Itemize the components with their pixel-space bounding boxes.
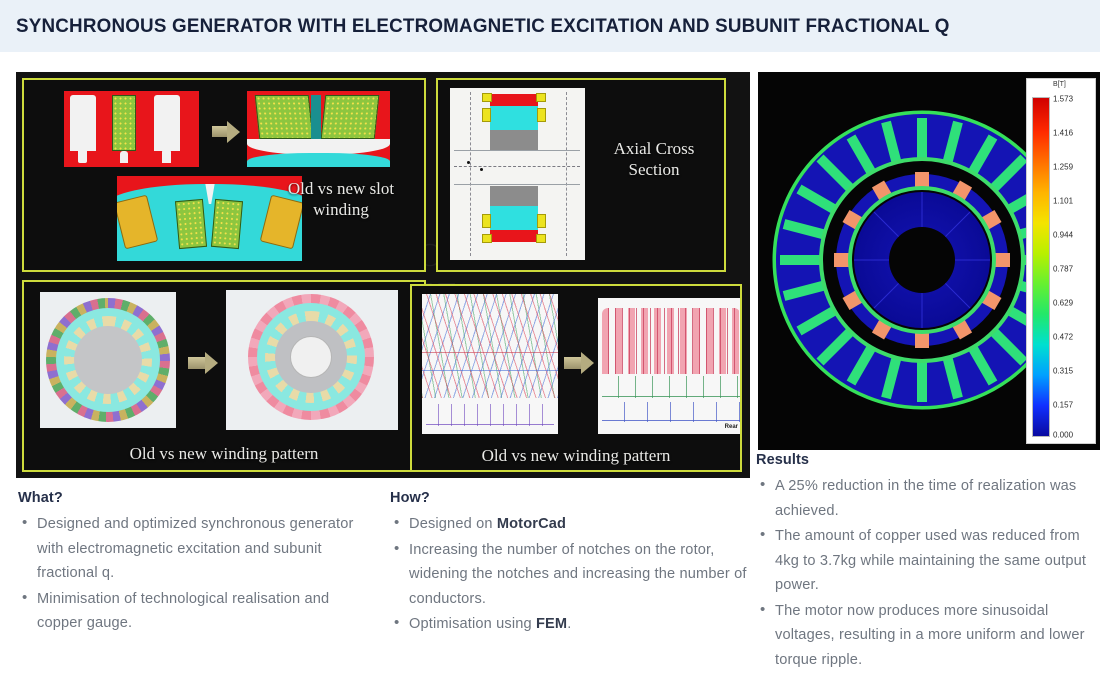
slide-header: SYNCHRONOUS GENERATOR WITH ELECTROMAGNET…: [0, 0, 1100, 52]
colorbar-unit-label: B[T]: [1053, 81, 1066, 88]
caption-winding-radial: Old vs new winding pattern: [24, 443, 424, 464]
column-how-list: Designed on MotorCad Increasing the numb…: [390, 512, 750, 637]
colorbar-tick-1: 1.416: [1053, 129, 1073, 138]
axial-drawing: [450, 88, 585, 260]
column-what-list: Designed and optimized synchronous gener…: [18, 512, 378, 636]
caption-line-1: Axial Cross: [614, 139, 695, 158]
new-coil-diagram: Rear: [598, 298, 742, 434]
list-item: The amount of copper used was reduced fr…: [756, 524, 1100, 598]
slot-detail-art: [117, 176, 302, 261]
column-results-list: A 25% reduction in the time of realizati…: [756, 474, 1100, 672]
slot-winding-comparison-art: [64, 91, 390, 167]
colorbar-tick-5: 0.787: [1053, 265, 1073, 274]
panel-winding-pattern-linear[interactable]: Rear Old vs new winding pattern: [410, 284, 742, 472]
caption-line-2: winding: [313, 200, 369, 219]
column-results: Results A 25% reduction in the time of r…: [756, 452, 1100, 673]
flux-density-colorbar: B[T] 1.573 1.416 1.259 1.101 0.944 0.787…: [1026, 78, 1096, 444]
column-results-title: Results: [756, 452, 1100, 468]
list-item: Designed and optimized synchronous gener…: [18, 512, 378, 586]
figure-panel-group: ASINCRONE MASINE: [16, 72, 750, 478]
caption-line-2: Section: [629, 160, 680, 179]
list-item: Minimisation of technological realisatio…: [18, 587, 378, 636]
column-how: How? Designed on MotorCad Increasing the…: [390, 490, 750, 638]
list-item: A 25% reduction in the time of realizati…: [756, 474, 1100, 523]
colorbar-tick-0: 1.573: [1053, 95, 1073, 104]
colorbar-gradient: [1032, 97, 1050, 437]
list-item-emphasis: MotorCad: [497, 516, 566, 532]
column-what-title: What?: [18, 490, 378, 506]
panel-slot-winding[interactable]: Old vs new slot winding: [22, 78, 426, 272]
list-item: Increasing the number of notches on the …: [390, 538, 750, 612]
list-item-suffix: .: [567, 616, 571, 632]
panel-winding-pattern-radial[interactable]: Old vs new winding pattern: [22, 280, 426, 472]
list-item-emphasis: FEM: [536, 616, 567, 632]
colorbar-ticks: B[T] 1.573 1.416 1.259 1.101 0.944 0.787…: [1050, 79, 1095, 443]
colorbar-tick-8: 0.315: [1053, 367, 1073, 376]
caption-line-1: Old vs new slot: [288, 179, 394, 198]
colorbar-tick-4: 0.944: [1053, 231, 1073, 240]
list-item: Designed on MotorCad: [390, 512, 750, 537]
new-winding-circle: [226, 290, 398, 430]
old-winding-circle: [40, 292, 176, 428]
colorbar-tick-10: 0.000: [1053, 431, 1073, 440]
list-item: The motor now produces more sinusoidal v…: [756, 599, 1100, 673]
caption-winding-linear: Old vs new winding pattern: [412, 445, 740, 466]
colorbar-tick-7: 0.472: [1053, 333, 1073, 342]
colorbar-tick-3: 1.101: [1053, 197, 1073, 206]
list-item-text: Designed on: [409, 516, 497, 532]
list-item: Optimisation using FEM.: [390, 612, 750, 637]
slide-root: SYNCHRONOUS GENERATOR WITH ELECTROMAGNET…: [0, 0, 1100, 700]
new-slot-art: [247, 91, 390, 167]
list-item-text: Optimisation using: [409, 616, 536, 632]
colorbar-tick-6: 0.629: [1053, 299, 1073, 308]
caption-axial: Axial Cross Section: [590, 138, 718, 181]
column-how-title: How?: [390, 490, 750, 506]
colorbar-tick-2: 1.259: [1053, 163, 1073, 172]
fem-simulation-panel[interactable]: B[T] 1.573 1.416 1.259 1.101 0.944 0.787…: [758, 72, 1100, 450]
old-coil-diagram: [422, 294, 558, 434]
colorbar-tick-9: 0.157: [1053, 401, 1073, 410]
list-item-text: Increasing the number of notches on the …: [409, 542, 747, 607]
panel-axial-cross-section[interactable]: Axial Cross Section: [436, 78, 726, 272]
column-what: What? Designed and optimized synchronous…: [18, 490, 378, 637]
page-title: SYNCHRONOUS GENERATOR WITH ELECTROMAGNET…: [16, 15, 950, 38]
old-slot-art: [64, 91, 199, 167]
